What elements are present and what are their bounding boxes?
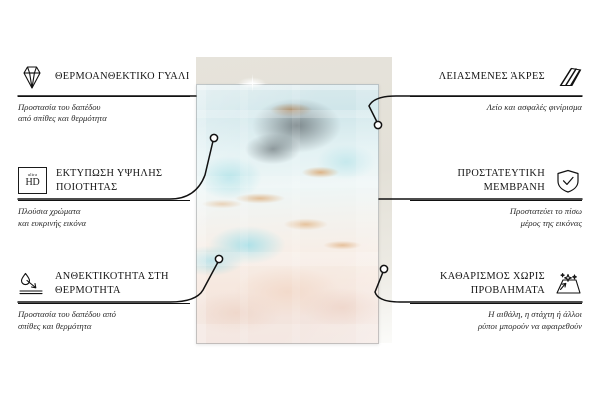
diamond-icon [18,64,46,90]
divider [410,200,582,201]
feature-heat-resistant-glass: ΘΕΡΜΟΑΝΘΕΚΤΙΚΟ ΓΥΑΛΙ Προστασία του δαπέδ… [18,64,190,125]
feature-title: ΛΕΙΑΣΜΕΝΕΣ ΆΚΡΕΣ [439,70,545,84]
divider [410,303,582,304]
feature-polished-edges: ΛΕΙΑΣΜΕΝΕΣ ΆΚΡΕΣ Λείο και ασφαλές φινίρι… [410,64,582,113]
feature-high-quality-print: ultra HD ΕΚΤΥΠΩΣΗ ΥΨΗΛΗΣ ΠΟΙΟΤΗΤΑΣ Πλούσ… [18,167,190,229]
feature-easy-cleaning: ΚΑΘΑΡΙΣΜΟΣ ΧΩΡΙΣ ΠΡΟΒΛΗΜΑΤΑ Η αιθάλη, η … [410,270,582,332]
feature-description: Η αιθάλη, η στάχτη ή άλλοιρύποι μπορούν … [410,309,582,332]
feature-description: Προστατεύει το πίσωμέρος της εικόνας [410,206,582,229]
divider [18,200,190,201]
ultra-hd-badge-icon: ultra HD [18,167,47,194]
feature-title: ΚΑΘΑΡΙΣΜΟΣ ΧΩΡΙΣ ΠΡΟΒΛΗΜΑΤΑ [410,270,545,297]
divider [18,96,190,97]
shield-check-icon [554,168,582,194]
easy-cleaning-icon [554,271,582,297]
feature-title: ΑΝΘΕΚΤΙΚΟΤΗΤΑ ΣΤΗ ΘΕΡΜΟΤΗΤΑ [55,270,190,297]
feature-description: Λείο και ασφαλές φινίρισμα [410,102,582,113]
connector-dot-left-bottom [215,255,222,262]
feature-title: ΕΚΤΥΠΩΣΗ ΥΨΗΛΗΣ ΠΟΙΟΤΗΤΑΣ [56,167,190,194]
feature-description: Προστασία του δαπέδου απόσπίθες και θερμ… [18,309,190,332]
feature-description: Πλούσια χρώματακαι ευκρινής εικόνα [18,206,190,229]
divider [18,303,190,304]
feature-protective-film: ΠΡΟΣΤΑΤΕΥΤΙΚΗ ΜΕΜΒΡΑΝΗ Προστατεύει το πί… [410,167,582,229]
connector-dot-right-top [374,121,381,128]
infographic-stage: ΘΕΡΜΟΑΝΘΕΚΤΙΚΟ ΓΥΑΛΙ Προστασία του δαπέδ… [0,0,600,400]
ultra-hd-badge-bottom-label: HD [25,178,39,188]
heat-resistance-icon [18,271,46,297]
feature-description: Προστασία του δαπέδουαπό σπίθες και θερμ… [18,102,190,125]
polished-edges-icon [554,64,582,90]
divider [410,96,582,97]
feature-heat-resistance: ΑΝΘΕΚΤΙΚΟΤΗΤΑ ΣΤΗ ΘΕΡΜΟΤΗΤΑ Προστασία το… [18,270,190,332]
connector-dot-left-middle [210,134,217,141]
feature-title: ΠΡΟΣΤΑΤΕΥΤΙΚΗ ΜΕΜΒΡΑΝΗ [410,167,545,194]
feature-title: ΘΕΡΜΟΑΝΘΕΚΤΙΚΟ ΓΥΑΛΙ [55,70,190,84]
connector-dot-right-bottom [380,265,387,272]
